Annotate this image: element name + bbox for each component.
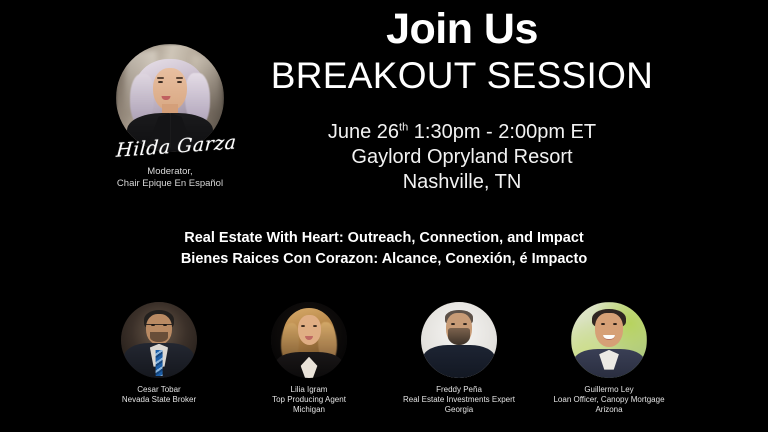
speaker-title: Real Estate Investments Expert bbox=[396, 395, 522, 405]
event-venue: Gaylord Opryland Resort bbox=[236, 145, 688, 170]
portrait-eye-right bbox=[463, 323, 467, 325]
portrait-brow-right bbox=[176, 77, 183, 79]
portrait-eye-right bbox=[313, 325, 317, 327]
session-title-block: Real Estate With Heart: Outreach, Connec… bbox=[60, 228, 708, 270]
speaker-portrait-lilia-igram bbox=[271, 302, 347, 378]
speaker-caption: Freddy Peña Real Estate Investments Expe… bbox=[396, 385, 522, 415]
portrait-face bbox=[595, 313, 622, 346]
speaker-name: Lilia Igram bbox=[246, 385, 372, 395]
speaker-location: Arizona bbox=[546, 405, 672, 415]
speaker-portrait-cesar-tobar bbox=[121, 302, 197, 378]
speaker-cesar-tobar: Cesar Tobar Nevada State Broker bbox=[96, 302, 222, 415]
headline-block: Join Us BREAKOUT SESSION bbox=[236, 4, 688, 98]
portrait-brow-left bbox=[157, 77, 164, 79]
speaker-lilia-igram: Lilia Igram Top Producing Agent Michigan bbox=[246, 302, 372, 415]
event-date: June 26 bbox=[328, 121, 399, 143]
speaker-location: Michigan bbox=[246, 405, 372, 415]
moderator-block: Hilda Garza Moderator, Chair Epique En E… bbox=[104, 44, 236, 190]
event-details: June 26th 1:30pm - 2:00pm ET Gaylord Opr… bbox=[236, 120, 688, 195]
moderator-role: Moderator, bbox=[104, 166, 236, 178]
event-datetime: June 26th 1:30pm - 2:00pm ET bbox=[236, 120, 688, 145]
speaker-name: Freddy Peña bbox=[396, 385, 522, 395]
event-city: Nashville, TN bbox=[236, 170, 688, 195]
speaker-freddy-pena: Freddy Peña Real Estate Investments Expe… bbox=[396, 302, 522, 415]
speaker-title: Loan Officer, Canopy Mortgage bbox=[546, 395, 672, 405]
speaker-caption: Guillermo Ley Loan Officer, Canopy Mortg… bbox=[546, 385, 672, 415]
session-title-english: Real Estate With Heart: Outreach, Connec… bbox=[60, 228, 708, 249]
portrait-tie bbox=[156, 350, 163, 376]
speakers-row: Cesar Tobar Nevada State Broker Lilia Ig… bbox=[96, 302, 672, 415]
event-date-ordinal: th bbox=[399, 121, 408, 133]
speaker-name: Cesar Tobar bbox=[96, 385, 222, 395]
speaker-portrait-freddy-pena bbox=[421, 302, 497, 378]
headline-breakout-session: BREAKOUT SESSION bbox=[236, 54, 688, 98]
speaker-caption: Lilia Igram Top Producing Agent Michigan bbox=[246, 385, 372, 415]
speaker-title: Nevada State Broker bbox=[96, 395, 222, 405]
portrait-glasses bbox=[146, 324, 172, 329]
speaker-title: Top Producing Agent bbox=[246, 395, 372, 405]
moderator-caption: Moderator, Chair Epique En Español bbox=[104, 166, 236, 190]
headline-join-us: Join Us bbox=[236, 4, 688, 54]
speaker-portrait-guillermo-ley bbox=[571, 302, 647, 378]
speaker-guillermo-ley: Guillermo Ley Loan Officer, Canopy Mortg… bbox=[546, 302, 672, 415]
portrait-eye-left bbox=[451, 323, 455, 325]
speaker-location: Georgia bbox=[396, 405, 522, 415]
moderator-title: Chair Epique En Español bbox=[104, 178, 236, 190]
speaker-name: Guillermo Ley bbox=[546, 385, 672, 395]
speaker-caption: Cesar Tobar Nevada State Broker bbox=[96, 385, 222, 405]
flyer-canvas: Hilda Garza Moderator, Chair Epique En E… bbox=[0, 0, 768, 432]
moderator-photo-wrap: Hilda Garza bbox=[116, 44, 224, 152]
event-time: 1:30pm - 2:00pm ET bbox=[408, 121, 596, 143]
session-title-spanish: Bienes Raices Con Corazon: Alcance, Cone… bbox=[60, 249, 708, 270]
portrait-shirt bbox=[423, 345, 496, 378]
